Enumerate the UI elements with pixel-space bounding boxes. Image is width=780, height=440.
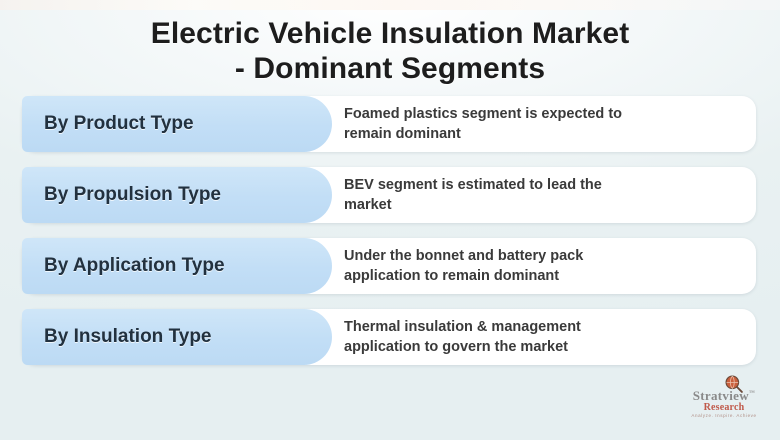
logo-tagline: Analyze. Inspire. Achieve <box>680 413 768 418</box>
description-line-2: application to remain dominant <box>344 266 744 286</box>
brand-logo: Stratview™ Research Analyze. Inspire. Ac… <box>680 376 768 424</box>
logo-name-text: Stratview <box>693 388 749 403</box>
page-title: Electric Vehicle Insulation Market - Dom… <box>0 16 780 87</box>
title-line-2: - Dominant Segments <box>0 51 780 86</box>
description-line-1: Under the bonnet and battery pack <box>344 246 744 266</box>
segment-description: Foamed plastics segment is expected to r… <box>344 96 744 152</box>
segment-description: BEV segment is estimated to lead the mar… <box>344 167 744 223</box>
segment-pill: By Application Type <box>22 238 332 294</box>
segment-label: By Product Type <box>22 113 194 135</box>
title-line-1: Electric Vehicle Insulation Market <box>0 16 780 51</box>
segment-row: By Propulsion Type BEV segment is estima… <box>22 167 756 223</box>
segment-pill: By Insulation Type <box>22 309 332 365</box>
segment-label: By Propulsion Type <box>22 184 221 206</box>
segment-description: Thermal insulation & management applicat… <box>344 309 744 365</box>
description-line-2: market <box>344 195 744 215</box>
logo-subtitle: Research <box>680 402 768 413</box>
description-line-2: remain dominant <box>344 124 744 144</box>
description-line-1: BEV segment is estimated to lead the <box>344 175 744 195</box>
segment-label: By Application Type <box>22 255 225 277</box>
segment-row: By Insulation Type Thermal insulation & … <box>22 309 756 365</box>
segment-label: By Insulation Type <box>22 326 212 348</box>
description-line-1: Thermal insulation & management <box>344 317 744 337</box>
segment-description: Under the bonnet and battery pack applic… <box>344 238 744 294</box>
segment-pill: By Propulsion Type <box>22 167 332 223</box>
description-line-1: Foamed plastics segment is expected to <box>344 104 744 124</box>
infographic-slide: Electric Vehicle Insulation Market - Dom… <box>0 0 780 440</box>
segment-row: By Product Type Foamed plastics segment … <box>22 96 756 152</box>
logo-trademark: ™ <box>749 391 755 397</box>
segment-pill: By Product Type <box>22 96 332 152</box>
description-line-2: application to govern the market <box>344 337 744 357</box>
segment-row: By Application Type Under the bonnet and… <box>22 238 756 294</box>
